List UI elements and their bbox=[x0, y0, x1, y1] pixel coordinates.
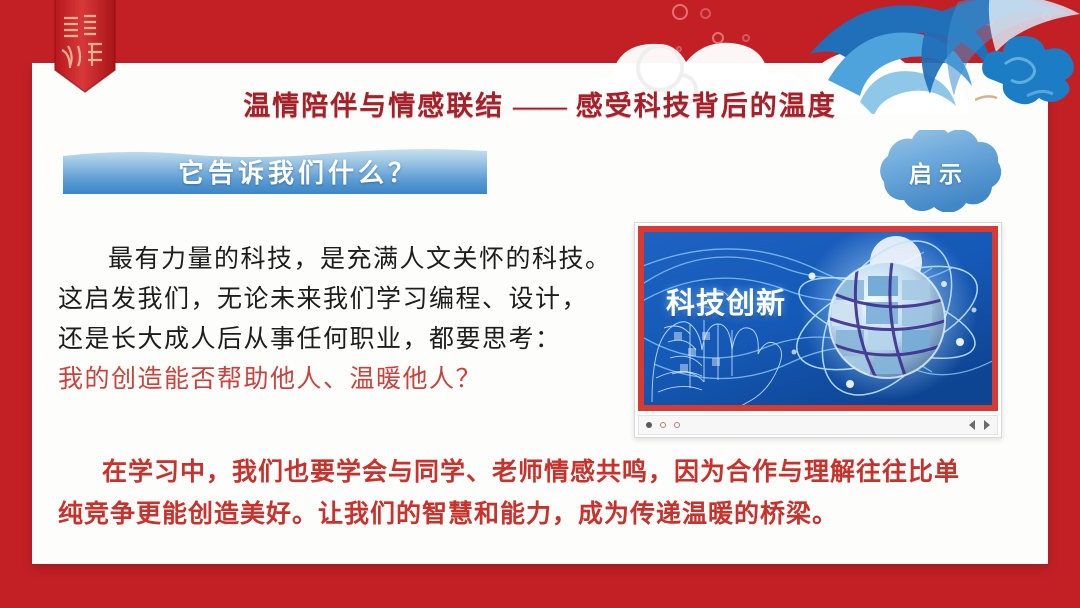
page-indicator-active-icon[interactable] bbox=[646, 422, 652, 428]
section-banner: 它告诉我们什么？ bbox=[63, 148, 487, 194]
page-title-part2: 感受科技背后的温度 bbox=[576, 91, 837, 121]
image-nav-arrows[interactable] bbox=[969, 420, 990, 430]
page-title-part1: 温情陪伴与情感联结 bbox=[243, 91, 504, 121]
page-title-dash: —— bbox=[513, 91, 567, 121]
body-left-line-1: 最有力量的科技，是充满人文关怀的科技。 bbox=[58, 240, 618, 280]
image-caption: 科技创新 bbox=[666, 280, 786, 322]
page-indicator-inactive-icon-1[interactable] bbox=[660, 422, 666, 428]
body-left-highlight-question: 我的创造能否帮助他人、温暖他人？ bbox=[58, 360, 618, 400]
image-viewport: 科技创新 bbox=[638, 226, 998, 411]
body-left-line-2: 这启发我们，无论未来我们学习编程、设计， bbox=[58, 280, 618, 320]
cloud-badge-label: 启示 bbox=[852, 130, 1022, 212]
body-text-left: 最有力量的科技，是充满人文关怀的科技。 这启发我们，无论未来我们学习编程、设计，… bbox=[58, 240, 618, 400]
image-card: 科技创新 bbox=[634, 222, 1002, 438]
prev-arrow-icon[interactable] bbox=[969, 420, 975, 430]
body-left-line-3: 还是长大成人后从事任何职业，都要思考： bbox=[58, 320, 618, 360]
cloud-badge: 启示 bbox=[852, 130, 1022, 212]
next-arrow-icon[interactable] bbox=[984, 420, 990, 430]
section-banner-label: 它告诉我们什么？ bbox=[63, 148, 487, 194]
body-bottom-line-2: 纯竞争更能创造美好。让我们的智慧和能力，成为传递温暖的桥梁。 bbox=[58, 494, 1008, 536]
image-page-indicators[interactable] bbox=[646, 422, 680, 428]
page-indicator-inactive-icon-2[interactable] bbox=[674, 422, 680, 428]
slide-root: 温情陪伴与情感联结 —— 感受科技背后的温度 它告诉我们什么？ bbox=[0, 0, 1080, 608]
page-title: 温情陪伴与情感联结 —— 感受科技背后的温度 bbox=[0, 84, 1080, 123]
body-text-bottom: 在学习中，我们也要学会与同学、老师情感共鸣，因为合作与理解往往比单 纯竞争更能创… bbox=[58, 452, 1008, 536]
body-bottom-line-1: 在学习中，我们也要学会与同学、老师情感共鸣，因为合作与理解往往比单 bbox=[58, 452, 1008, 494]
image-control-bar bbox=[638, 415, 998, 435]
